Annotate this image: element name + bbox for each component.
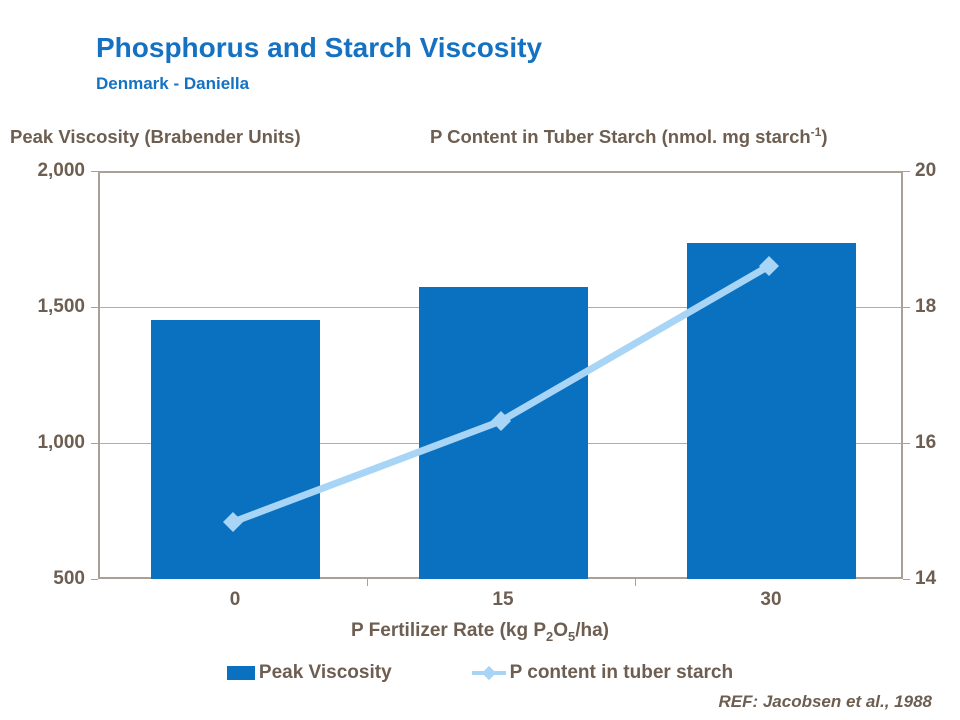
- legend-item-peak-viscosity[interactable]: Peak Viscosity: [227, 662, 392, 684]
- bar-swatch-icon: [227, 666, 255, 680]
- chart-root: Phosphorus and Starch Viscosity Denmark …: [0, 0, 960, 720]
- left-tick-label-500: 500: [53, 568, 85, 590]
- tick-right-14: [903, 579, 910, 580]
- left-tick-label-1000: 1,000: [37, 432, 85, 454]
- bar-rate-0: [151, 320, 320, 579]
- x-axis-title: P Fertilizer Rate (kg P2O5/ha): [0, 620, 960, 642]
- right-tick-label-20: 20: [915, 160, 936, 182]
- legend-label-peak-viscosity: Peak Viscosity: [259, 662, 392, 684]
- left-tick-label-2000: 2,000: [37, 160, 85, 182]
- tick-left-1000: [91, 443, 98, 444]
- left-axis-title: Peak Viscosity (Brabender Units): [10, 126, 301, 148]
- chart-subtitle: Denmark - Daniella: [96, 74, 249, 94]
- legend-item-p-content[interactable]: P content in tuber starch: [472, 662, 733, 684]
- x-axis-title-mid: O: [553, 620, 568, 641]
- right-tick-label-14: 14: [915, 568, 936, 590]
- bar-rate-30: [687, 243, 856, 579]
- x-tick-label-30: 30: [760, 589, 781, 611]
- chart-title: Phosphorus and Starch Viscosity: [96, 32, 542, 64]
- legend: Peak Viscosity P content in tuber starch: [0, 662, 960, 684]
- legend-label-p-content: P content in tuber starch: [510, 662, 733, 684]
- right-axis-title: P Content in Tuber Starch (nmol. mg star…: [430, 126, 828, 148]
- right-axis-title-tail: ): [821, 126, 827, 147]
- tick-right-16: [903, 443, 910, 444]
- right-axis-title-main: P Content in Tuber Starch (nmol. mg star…: [430, 126, 811, 147]
- x-axis-title-post: /ha): [575, 620, 609, 641]
- reference-note: REF: Jacobsen et al., 1988: [718, 692, 932, 712]
- right-tick-label-18: 18: [915, 296, 936, 318]
- tick-x-boundary-2: [635, 579, 636, 586]
- tick-right-18: [903, 307, 910, 308]
- tick-left-500: [91, 579, 98, 580]
- right-tick-label-16: 16: [915, 432, 936, 454]
- x-axis-title-pre: P Fertilizer Rate (kg P: [351, 620, 546, 641]
- bar-rate-15: [419, 287, 588, 579]
- x-tick-label-0: 0: [230, 589, 241, 611]
- tick-left-1500: [91, 307, 98, 308]
- tick-x-boundary-1: [367, 579, 368, 586]
- tick-right-20: [903, 171, 910, 172]
- left-tick-label-1500: 1,500: [37, 296, 85, 318]
- tick-left-2000: [91, 171, 98, 172]
- line-marker-swatch-icon: [472, 666, 506, 680]
- x-tick-label-15: 15: [492, 589, 513, 611]
- right-axis-title-superscript: -1: [811, 125, 822, 139]
